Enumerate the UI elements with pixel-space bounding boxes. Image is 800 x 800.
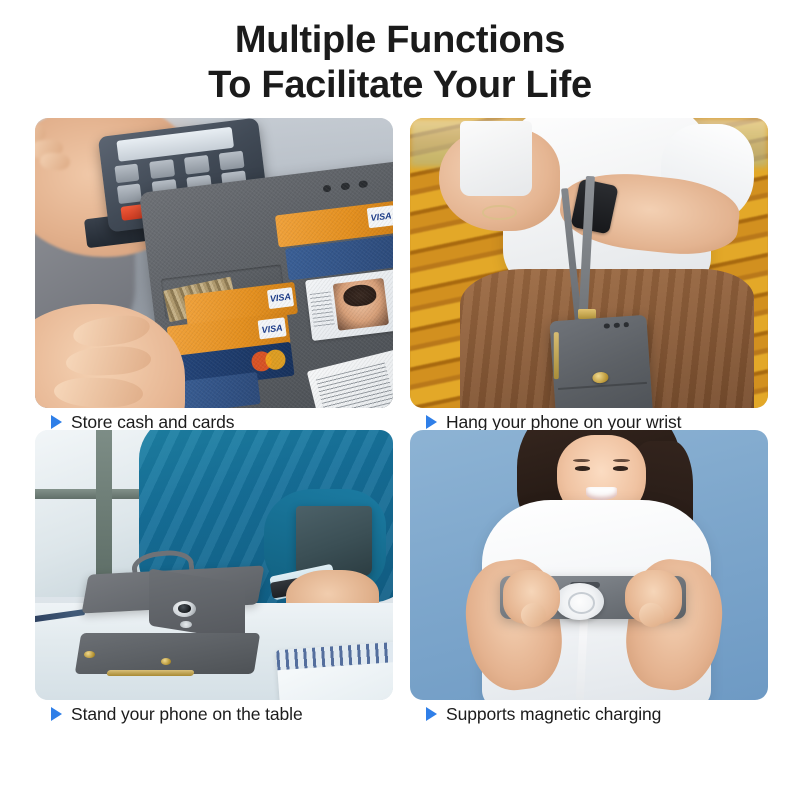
id-card-portrait-photo	[333, 278, 389, 330]
cash-bills	[163, 277, 237, 322]
bank-card	[285, 235, 393, 280]
triangle-right-icon	[426, 707, 437, 721]
mastercard-yellow-circle	[265, 348, 288, 370]
visa-logo: VISA	[267, 287, 294, 309]
feature-caption-cell-3: Stand your phone on the table	[35, 700, 393, 722]
camera-cutout	[604, 322, 629, 328]
wallet-phone-case-stand	[78, 565, 286, 678]
visa-logo: VISA	[258, 317, 287, 340]
metal-rivet	[161, 658, 171, 665]
metal-rivet	[84, 651, 94, 658]
visa-card: VISA	[166, 312, 291, 358]
wallet-phone-case	[550, 315, 654, 408]
headline-line-2: To Facilitate Your Life	[0, 63, 800, 108]
photo-stand-on-table	[35, 430, 393, 700]
finger	[39, 152, 70, 170]
photo-store-cash-and-cards: VISA VISA VISA	[35, 118, 393, 408]
id-card-text-lines	[310, 291, 335, 327]
eye	[575, 466, 590, 470]
mastercard-red-circle	[250, 350, 273, 372]
card-slot	[160, 264, 286, 320]
zipper	[106, 670, 194, 676]
id-card	[305, 268, 393, 341]
coffee-mug	[296, 506, 371, 576]
feature-cell-magnetic-charging	[410, 430, 768, 700]
mastercard-card	[175, 341, 295, 389]
caption-stand-on-table: Stand your phone on the table	[35, 700, 393, 722]
smile	[586, 487, 616, 500]
triangle-right-icon	[51, 415, 62, 429]
case-base	[75, 633, 260, 674]
product-feature-infographic: Multiple Functions To Facilitate Your Li…	[0, 0, 800, 800]
camera-hole	[623, 322, 629, 327]
feature-cell-hang-on-wrist	[410, 118, 768, 408]
camera-hole	[322, 184, 331, 193]
drivers-license-card	[307, 342, 393, 408]
caption-text: Supports magnetic charging	[446, 704, 661, 725]
triangle-right-icon	[426, 415, 437, 429]
photo-magnetic-charging	[410, 430, 768, 700]
keypad-key	[219, 150, 244, 170]
caption-text: Stand your phone on the table	[71, 704, 303, 725]
triangle-right-icon	[51, 707, 62, 721]
feature-cell-stand-on-table	[35, 430, 393, 700]
camera-hole	[614, 323, 620, 328]
spiral-notebook	[277, 642, 393, 700]
visa-card: VISA	[184, 282, 298, 327]
eye	[613, 466, 628, 470]
camera-hole	[341, 182, 350, 191]
feature-caption-cell-2: Hang your phone on your wrist	[410, 408, 768, 430]
photo-hang-on-wrist	[410, 118, 768, 408]
feature-grid: VISA VISA VISA	[35, 118, 768, 780]
paper-cup	[460, 121, 532, 196]
caption-store-cash-and-cards: Store cash and cards	[35, 408, 393, 430]
feature-caption-cell-1: Store cash and cards	[35, 408, 393, 430]
keypad-key	[114, 163, 139, 183]
feature-caption-cell-4: Supports magnetic charging	[410, 700, 768, 722]
window-frame	[96, 430, 112, 587]
page-title: Multiple Functions To Facilitate Your Li…	[0, 18, 800, 108]
finger	[65, 345, 151, 377]
headline-line-1: Multiple Functions	[235, 19, 565, 61]
zipper-pull	[554, 332, 559, 379]
bracelet	[482, 205, 518, 220]
eyebrow	[613, 459, 630, 462]
keypad-key	[184, 154, 209, 174]
mastercard-logo	[250, 348, 287, 372]
camera-hole	[359, 180, 368, 189]
window-frame	[35, 489, 142, 498]
finger	[53, 377, 143, 408]
snap-button	[592, 371, 609, 384]
keypad-key	[149, 159, 174, 179]
visa-logo: VISA	[367, 206, 393, 229]
magnetic-charger-puck	[555, 583, 603, 620]
camera-cutout	[322, 180, 368, 193]
caption-magnetic-charging: Supports magnetic charging	[410, 700, 768, 722]
keypad-key	[117, 183, 142, 203]
visa-card: VISA	[275, 201, 393, 247]
feature-cell-store-cash-and-cards: VISA VISA VISA	[35, 118, 393, 408]
caption-hang-on-wrist: Hang your phone on your wrist	[410, 408, 768, 430]
camera-hole	[604, 324, 610, 329]
finger	[72, 311, 152, 349]
eyebrow	[573, 459, 590, 462]
